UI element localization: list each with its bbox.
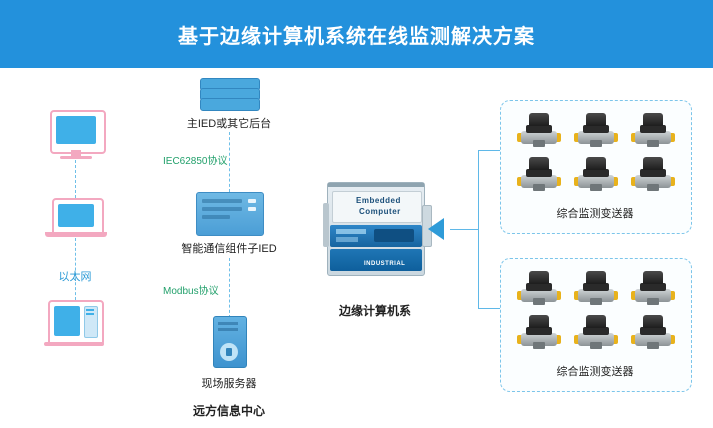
workstation-base: [44, 342, 104, 346]
label-field-server: 现场服务器: [191, 375, 267, 391]
main-ied-icon-layer-1: [200, 98, 260, 111]
page-title: 基于边缘计算机系统在线监测解决方案: [0, 20, 713, 49]
sensor-icon: [517, 271, 561, 305]
ethernet-link-line: [75, 160, 76, 198]
sensor-branch-bottom: [478, 308, 500, 309]
label-main-ied: 主IED或其它后台: [179, 115, 279, 131]
sensor-icon: [574, 157, 618, 191]
laptop-base: [45, 232, 107, 237]
sensor-bus-line: [450, 229, 478, 230]
edge-computer-icon: Embedded Computer INDUSTRIAL: [327, 182, 425, 276]
flow-arrow-icon: [428, 218, 444, 240]
sensor-icon: [631, 271, 675, 305]
label-transmitter-bottom: 综合监测变送器: [501, 363, 689, 379]
sensor-icon: [631, 315, 675, 349]
sensor-bus-vertical: [478, 150, 479, 308]
sensor-icon: [631, 113, 675, 147]
edge-brand-line2: Computer: [359, 207, 401, 216]
sensor-icon: [574, 113, 618, 147]
label-smart-comm-ied: 智能通信组件子IED: [176, 240, 282, 256]
sensor-group-bottom: 综合监测变送器: [500, 258, 692, 392]
label-ethernet: 以太网: [38, 268, 112, 284]
sensor-icon: [631, 157, 675, 191]
label-modbus-protocol: Modbus协议: [163, 282, 283, 297]
sensor-icon: [517, 113, 561, 147]
label-transmitter-top: 综合监测变送器: [501, 205, 689, 221]
sensor-icon: [517, 157, 561, 191]
label-remote-center: 远方信息中心: [179, 402, 279, 419]
sensor-icon: [517, 315, 561, 349]
label-iec-protocol: IEC62850协议: [163, 152, 283, 167]
field-server-icon: [213, 316, 247, 368]
edge-brand-line1: Embedded: [356, 196, 401, 205]
diagram-canvas: 基于边缘计算机系统在线监测解决方案 以太网 主IED或其它后台 IEC62850…: [0, 0, 713, 428]
title-banner: 基于边缘计算机系统在线监测解决方案: [0, 0, 713, 68]
workstation-icon: [48, 300, 104, 346]
sensor-group-top: 综合监测变送器: [500, 100, 692, 234]
label-edge-computer: 边缘计算机系: [320, 302, 430, 319]
laptop-icon: [52, 198, 104, 236]
edge-footer-text: INDUSTRIAL: [364, 261, 405, 267]
sensor-branch-top: [478, 150, 500, 151]
monitor-base: [60, 156, 92, 159]
sensor-icon: [574, 271, 618, 305]
sensor-icon: [574, 315, 618, 349]
smart-comm-ied-icon: [196, 192, 264, 236]
desktop-monitor-icon: [50, 110, 106, 154]
